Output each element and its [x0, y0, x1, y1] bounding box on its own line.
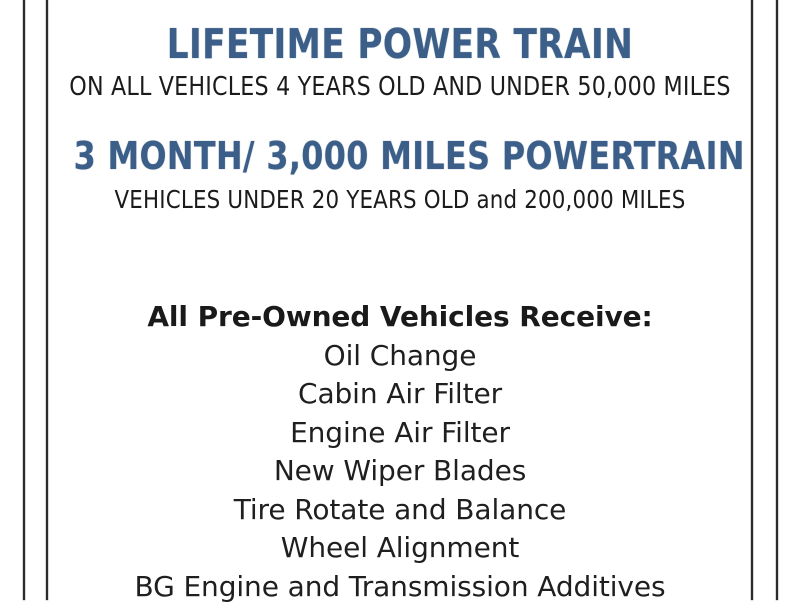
flyer-page: LIFETIME POWER TRAIN ON ALL VEHICLES 4 Y…: [0, 0, 800, 600]
service-item: Cabin Air Filter: [49, 375, 751, 414]
services-section: All Pre-Owned Vehicles Receive: Oil Chan…: [49, 298, 751, 606]
service-item: Oil Change: [49, 337, 751, 376]
warranty-subline-three-month: VEHICLES UNDER 20 YEARS OLD and 200,000 …: [67, 185, 734, 215]
right-outer-rule: [776, 0, 778, 600]
warranty-block-three-month: 3 MONTH/ 3,000 MILES POWERTRAIN VEHICLES…: [49, 136, 751, 215]
content-column: LIFETIME POWER TRAIN ON ALL VEHICLES 4 Y…: [49, 0, 751, 600]
service-item: Tire Rotate and Balance: [49, 491, 751, 530]
warranty-headline-three-month: 3 MONTH/ 3,000 MILES POWERTRAIN: [74, 136, 727, 177]
left-outer-rule: [23, 0, 25, 600]
warranty-headline-lifetime: LIFETIME POWER TRAIN: [74, 22, 727, 66]
service-item: Wheel Alignment: [49, 529, 751, 568]
right-inner-rule: [751, 0, 753, 600]
service-item: BG Engine and Transmission Additives: [49, 568, 751, 606]
warranty-block-lifetime: LIFETIME POWER TRAIN ON ALL VEHICLES 4 Y…: [49, 22, 751, 102]
service-item: New Wiper Blades: [49, 452, 751, 491]
service-item: Engine Air Filter: [49, 414, 751, 453]
left-inner-rule: [46, 0, 48, 600]
warranty-subline-lifetime: ON ALL VEHICLES 4 YEARS OLD AND UNDER 50…: [67, 72, 734, 102]
services-heading: All Pre-Owned Vehicles Receive:: [49, 298, 751, 337]
